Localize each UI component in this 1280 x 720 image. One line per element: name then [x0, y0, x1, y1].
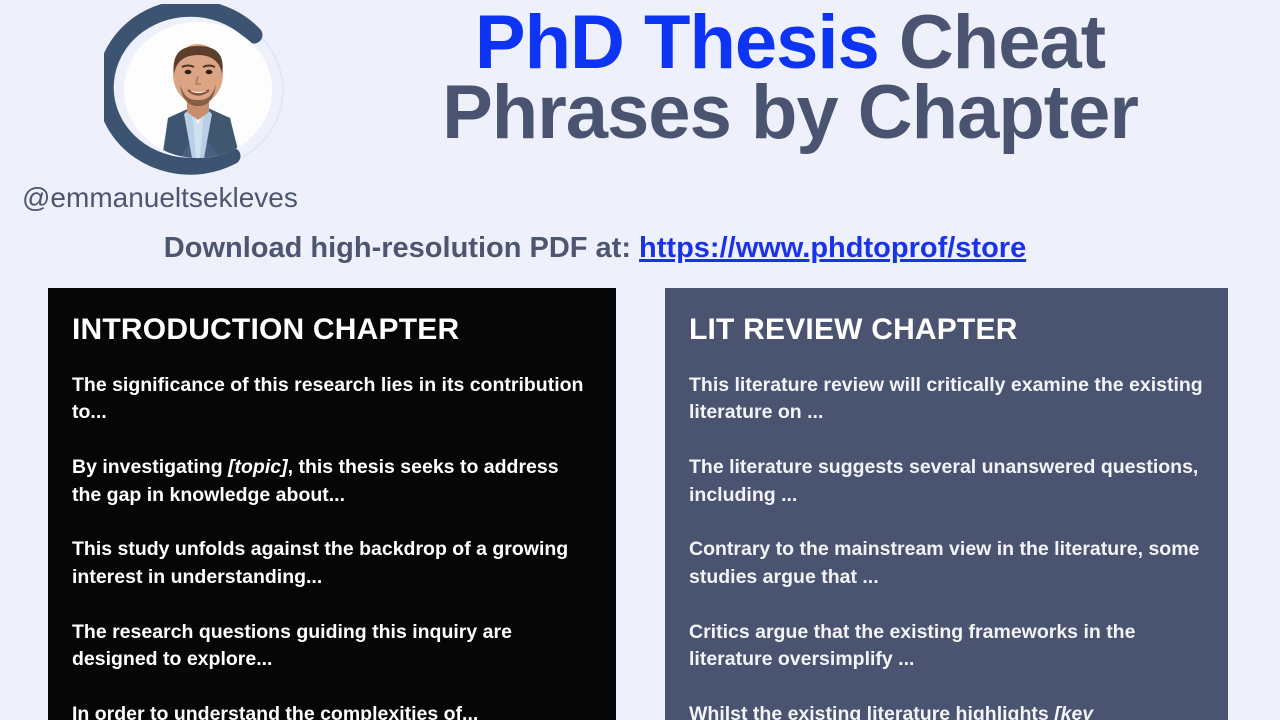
phrase-placeholder: [key: [1054, 703, 1093, 720]
phrase-item: The significance of this research lies i…: [72, 372, 592, 427]
phrase-item: Contrary to the mainstream view in the l…: [689, 536, 1204, 591]
avatar-portrait-icon: [124, 22, 272, 158]
phrase-before: The research questions guiding this inqu…: [72, 621, 512, 671]
phrase-item: Whilst the existing literature highlight…: [689, 701, 1204, 720]
phrase-before: This study unfolds against the backdrop …: [72, 538, 568, 588]
phrase-before: In order to understand the complexities …: [72, 703, 478, 720]
avatar: [104, 4, 296, 180]
account-handle: @emmanueltsekleves: [22, 182, 298, 214]
phrase-item: The literature suggests several unanswer…: [689, 454, 1204, 509]
card-phrase-list: This literature review will critically e…: [689, 372, 1204, 720]
card-introduction-chapter: INTRODUCTION CHAPTER The significance of…: [48, 288, 616, 720]
header: @emmanueltsekleves PhD Thesis Cheat Phra…: [0, 0, 1280, 288]
phrase-placeholder: [topic]: [228, 456, 288, 478]
avatar-photo: [124, 22, 272, 158]
download-link[interactable]: https://www.phdtoprof/store: [639, 232, 1026, 264]
phrase-before: Critics argue that the existing framewor…: [689, 621, 1135, 671]
card-title: INTRODUCTION CHAPTER: [72, 314, 592, 346]
phrase-item: By investigating [topic], this thesis se…: [72, 454, 592, 509]
page-title: PhD Thesis Cheat Phrases by Chapter: [380, 8, 1200, 148]
phrase-before: This literature review will critically e…: [689, 374, 1203, 424]
download-line: Download high-resolution PDF at: https:/…: [0, 232, 1190, 265]
phrase-item: The research questions guiding this inqu…: [72, 619, 592, 674]
card-title: LIT REVIEW CHAPTER: [689, 314, 1204, 346]
phrase-item: Critics argue that the existing framewor…: [689, 619, 1204, 674]
card-phrase-list: The significance of this research lies i…: [72, 372, 592, 720]
phrase-before: Contrary to the mainstream view in the l…: [689, 538, 1199, 588]
phrase-before: By investigating: [72, 456, 228, 478]
phrase-item: In order to understand the complexities …: [72, 701, 592, 720]
phrase-before: Whilst the existing literature highlight…: [689, 703, 1054, 720]
download-label: Download high-resolution PDF at:: [164, 232, 639, 264]
card-lit-review-chapter: LIT REVIEW CHAPTER This literature revie…: [665, 288, 1228, 720]
phrase-item: This literature review will critically e…: [689, 372, 1204, 427]
phrase-item: This study unfolds against the backdrop …: [72, 536, 592, 591]
phrase-before: The significance of this research lies i…: [72, 374, 583, 424]
phrase-before: The literature suggests several unanswer…: [689, 456, 1198, 506]
